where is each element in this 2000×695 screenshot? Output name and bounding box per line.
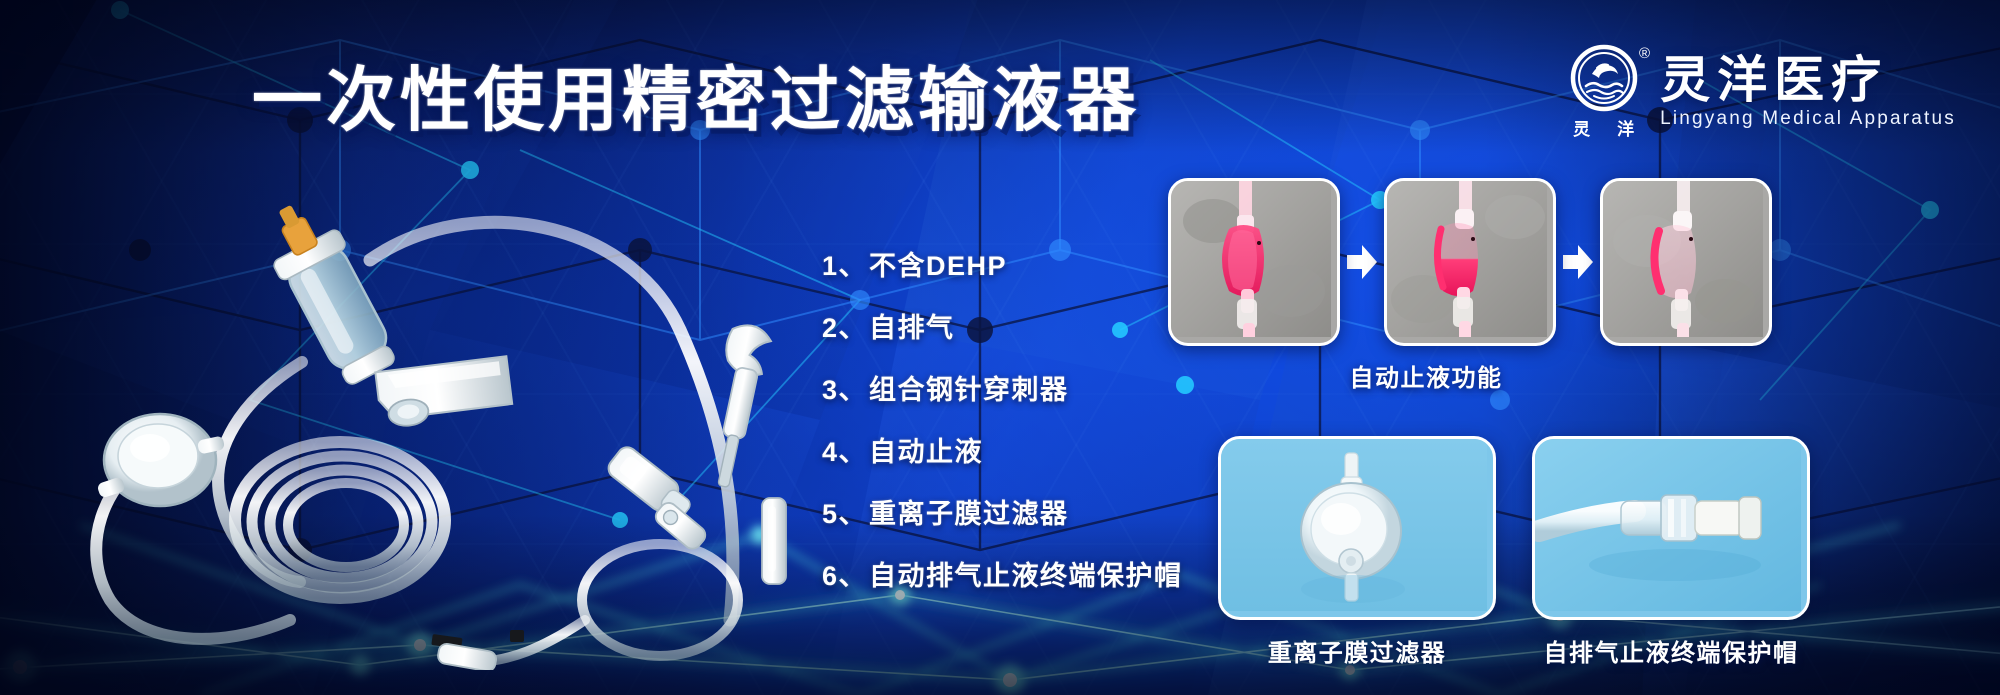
feature-label-1: 不含DEHP	[869, 244, 1007, 283]
arrow-right-icon	[1340, 242, 1384, 282]
drip-chamber-part	[252, 191, 406, 392]
feature-item-6: 6、 自动排气止液终端保护帽	[822, 542, 1183, 604]
feature-index-5: 5、	[822, 492, 867, 531]
auto-stop-step-2	[1384, 178, 1556, 346]
feature-label-3: 组合钢针穿刺器	[869, 368, 1069, 407]
auto-stop-sequence	[1168, 178, 1772, 346]
feature-item-2: 2、 自排气	[822, 294, 1183, 356]
lower-panel-endcap: 自排气止液终端保护帽	[1532, 436, 1810, 668]
self-venting-stop-end-cap	[1532, 436, 1810, 620]
feature-index-4: 4、	[822, 430, 867, 469]
feature-index-1: 1、	[822, 244, 867, 283]
lingyang-seal-logo-icon: ®	[1570, 44, 1638, 112]
roller-clamp-part	[375, 356, 513, 429]
arrow-right-icon	[1556, 242, 1600, 282]
auto-stop-step-3	[1600, 178, 1772, 346]
feature-label-6: 自动排气止液终端保护帽	[869, 554, 1183, 593]
brand-name-en: Lingyang Medical Apparatus	[1660, 108, 1956, 130]
heavy-ion-membrane-filter	[1218, 436, 1496, 620]
brand-name-cn: 灵洋医疗	[1660, 54, 1956, 107]
luer-connector-part	[437, 643, 498, 670]
feature-label-4: 自动止液	[869, 430, 983, 469]
lower-caption-filter: 重离子膜过滤器	[1268, 633, 1447, 668]
auto-stop-sequence-caption: 自动止液功能	[1168, 358, 1684, 393]
brand-seal-group: ® 灵 洋	[1570, 44, 1638, 140]
brand-seal-char-1: 灵	[1573, 115, 1591, 140]
feature-index-2: 2、	[822, 306, 867, 345]
feature-list: 1、 不含DEHP 2、 自排气 3、 组合钢针穿刺器 4、 自动止液 5、 重…	[822, 232, 1183, 604]
brand-logo: ® 灵 洋 灵洋医疗 Lingyang Medical Apparatus	[1570, 44, 1956, 140]
brand-seal-characters: 灵 洋	[1573, 115, 1635, 140]
registered-trademark-icon: ®	[1639, 46, 1650, 61]
auto-stop-step-1	[1168, 178, 1340, 346]
feature-item-1: 1、 不含DEHP	[822, 232, 1183, 294]
page-title: 一次性使用精密过滤输液器	[252, 44, 1140, 145]
lower-caption-endcap: 自排气止液终端保护帽	[1544, 633, 1799, 668]
feature-label-2: 自排气	[869, 306, 955, 345]
feature-item-4: 4、 自动止液	[822, 418, 1183, 480]
iv-infusion-set-photo	[40, 150, 800, 670]
feature-index-3: 3、	[822, 368, 867, 407]
feature-index-6: 6、	[822, 554, 867, 593]
brand-seal-char-2: 洋	[1617, 115, 1635, 140]
needle-cap-part	[762, 498, 786, 584]
feature-item-3: 3、 组合钢针穿刺器	[822, 356, 1183, 418]
brand-name-group: 灵洋医疗 Lingyang Medical Apparatus	[1660, 54, 1956, 131]
lower-panel-filter: 重离子膜过滤器	[1218, 436, 1496, 668]
feature-item-5: 5、 重离子膜过滤器	[822, 480, 1183, 542]
filter-disc-part	[96, 414, 225, 506]
product-banner: 一次性使用精密过滤输液器 ® 灵 洋 灵洋医疗	[0, 0, 2000, 695]
feature-label-5: 重离子膜过滤器	[869, 492, 1069, 531]
lower-photo-panels: 重离子膜过滤器	[1218, 436, 1810, 668]
